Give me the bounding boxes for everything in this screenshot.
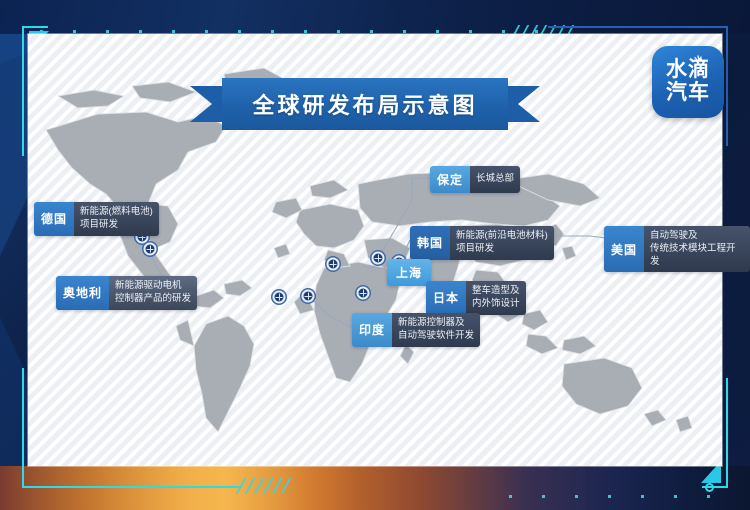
label-austria-desc: 新能源驱动电机 控制器产品的研发 bbox=[109, 276, 197, 310]
label-austria-key: 奥地利 bbox=[56, 276, 109, 310]
label-austria[interactable]: 奥地利 新能源驱动电机 控制器产品的研发 bbox=[56, 276, 197, 310]
line-endpoint-circle bbox=[705, 483, 714, 492]
label-korea-key: 韩国 bbox=[410, 226, 450, 260]
label-usa-key: 美国 bbox=[604, 226, 644, 272]
label-usa-desc: 自动驾驶及 传统技术模块工程开发 bbox=[644, 226, 750, 272]
title-ribbon: 全球研发布局示意图 bbox=[190, 78, 540, 130]
logo-line-2: 汽车 bbox=[666, 82, 710, 105]
map-marker-shanghai[interactable] bbox=[357, 287, 370, 300]
label-baoding-desc: 长城总部 bbox=[470, 166, 520, 193]
label-korea[interactable]: 韩国 新能源(前沿电池材料) 项目研发 bbox=[410, 226, 554, 260]
label-japan-desc: 整车造型及 内外饰设计 bbox=[466, 281, 526, 315]
label-germany[interactable]: 德国 新能源(燃料电池) 项目研发 bbox=[34, 202, 159, 236]
map-marker-china-west[interactable] bbox=[327, 258, 340, 271]
ribbon-body: 全球研发布局示意图 bbox=[222, 78, 508, 130]
label-india[interactable]: 印度 新能源控制器及 自动驾驶软件开发 bbox=[352, 313, 480, 347]
label-baoding[interactable]: 保定 长城总部 bbox=[430, 166, 520, 193]
label-japan[interactable]: 日本 整车造型及 内外饰设计 bbox=[426, 281, 526, 315]
map-marker-austria[interactable] bbox=[144, 243, 157, 256]
dot-accents-top bbox=[40, 30, 538, 33]
label-baoding-key: 保定 bbox=[430, 166, 470, 193]
label-germany-key: 德国 bbox=[34, 202, 74, 236]
label-india-desc: 新能源控制器及 自动驾驶软件开发 bbox=[392, 313, 480, 347]
label-usa[interactable]: 美国 自动驾驶及 传统技术模块工程开发 bbox=[604, 226, 750, 272]
label-shanghai-key: 上海 bbox=[387, 259, 431, 286]
dot-accents-bottom bbox=[509, 495, 710, 498]
label-japan-key: 日本 bbox=[426, 281, 466, 315]
brand-logo: 水滴 汽车 bbox=[652, 46, 724, 118]
label-india-key: 印度 bbox=[352, 313, 392, 347]
map-marker-west-asia[interactable] bbox=[273, 291, 286, 304]
hash-ticks-bottom-left bbox=[240, 478, 287, 494]
map-marker-baoding[interactable] bbox=[372, 252, 385, 265]
poster-root: 全球研发布局示意图 水滴 汽车 德国 新能源(燃料电池) 项目研发 奥地利 新能… bbox=[0, 0, 750, 510]
bottom-left-rule bbox=[22, 486, 242, 488]
label-shanghai[interactable]: 上海 bbox=[387, 259, 431, 286]
label-korea-desc: 新能源(前沿电池材料) 项目研发 bbox=[450, 226, 554, 260]
label-germany-desc: 新能源(燃料电池) 项目研发 bbox=[74, 202, 159, 236]
map-marker-india[interactable] bbox=[302, 290, 315, 303]
page-title: 全球研发布局示意图 bbox=[252, 88, 477, 120]
droplet-spark-icon bbox=[692, 55, 704, 67]
